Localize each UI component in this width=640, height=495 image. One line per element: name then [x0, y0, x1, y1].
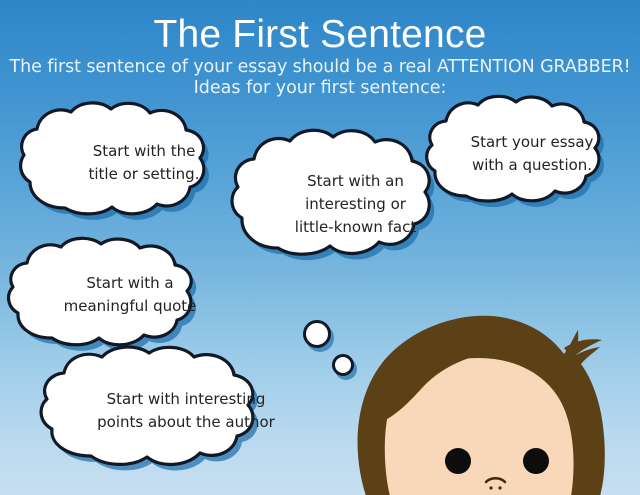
subtitle-line-1: The first sentence of your essay should … [0, 57, 640, 78]
boy-illustration [328, 296, 640, 495]
subtitle-line-2: Ideas for your first sentence: [0, 78, 640, 99]
thought-cloud-question: Start your essay with a question. [424, 98, 640, 220]
cloud-shape-icon [6, 240, 254, 362]
cloud-shape-icon [36, 350, 336, 482]
thought-cloud-title-setting: Start with the title or setting. [18, 104, 270, 234]
cloud-shape-icon [18, 104, 270, 234]
thought-cloud-author-points: Start with interesting points about the … [36, 350, 336, 482]
boy-nostril-left [489, 486, 492, 489]
boy-eye-right [523, 448, 549, 474]
thought-bubble-large [303, 320, 331, 348]
boy-nostril-right [498, 486, 501, 489]
boy-face-icon [328, 296, 640, 495]
poster-canvas: The First Sentence The first sentence of… [0, 0, 640, 495]
cloud-shape-icon [424, 98, 640, 220]
page-title: The First Sentence [0, 14, 640, 56]
boy-eye-left [445, 448, 471, 474]
thought-cloud-meaningful-quote: Start with a meaningful quote [6, 240, 254, 362]
